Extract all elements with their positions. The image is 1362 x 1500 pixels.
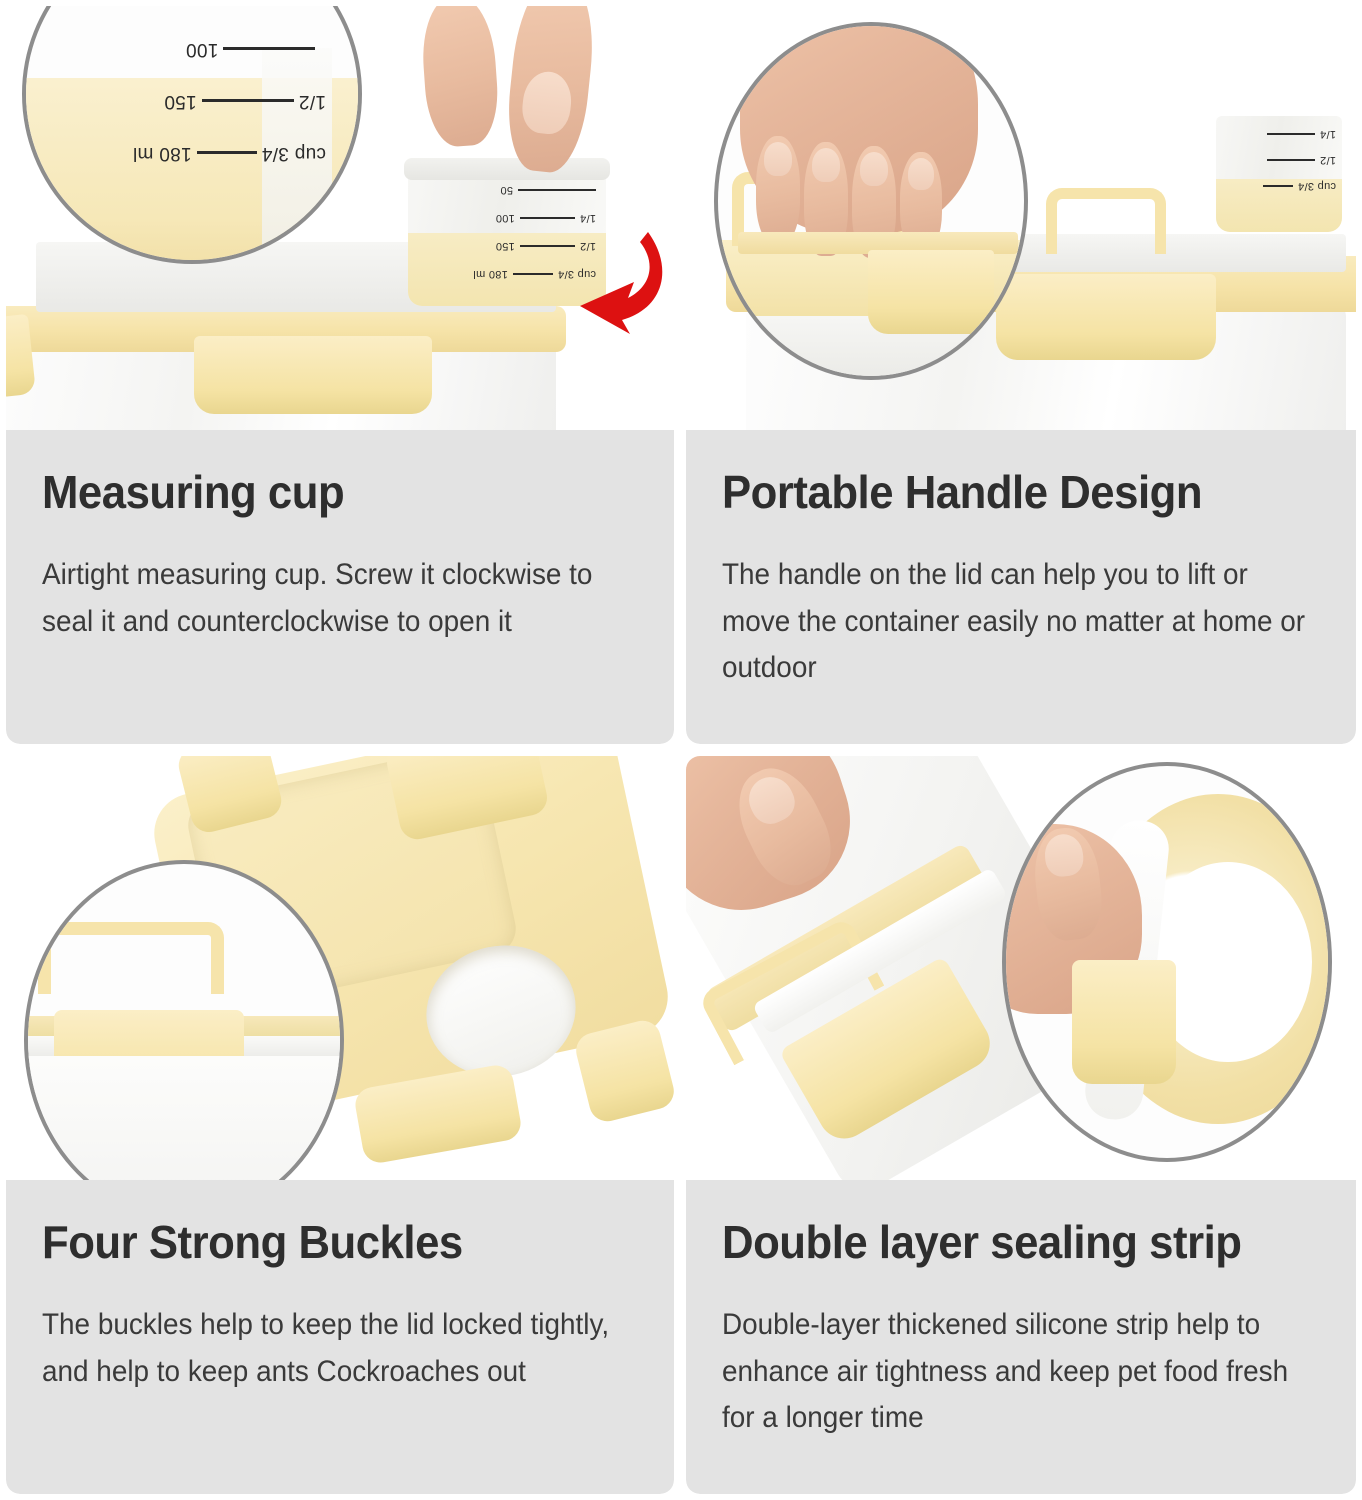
- fingernail: [741, 770, 801, 831]
- clockwise-arrow-icon: [578, 224, 674, 334]
- caption-portable-handle: Portable Handle Design The handle on the…: [686, 430, 1356, 744]
- buckle-4: [572, 1017, 674, 1125]
- feature-card-four-strong-buckles: Four Strong Buckles The buckles help to …: [6, 756, 674, 1494]
- measuring-cup-scale: cup 3/4 1/2 1/4: [1226, 128, 1336, 192]
- inset-container-body: [28, 1056, 344, 1180]
- product-photo-sealing-strip: [686, 756, 1356, 1180]
- product-photo-measuring-cup: cup 3/4180 ml 1/2150 1/4100 50: [6, 6, 674, 430]
- fingernail: [860, 152, 888, 186]
- finger-thumb: [502, 6, 600, 176]
- buckle-front: [194, 336, 432, 414]
- product-photo-buckles: [6, 756, 674, 1180]
- fingernail: [1043, 832, 1085, 878]
- measuring-cup-rim: [404, 158, 610, 180]
- fingernail: [908, 158, 934, 190]
- feature-card-measuring-cup: cup 3/4180 ml 1/2150 1/4100 50: [6, 6, 674, 744]
- magnifier-inset-handle-grip: [714, 22, 1028, 380]
- finger-1: [756, 136, 800, 244]
- feature-title: Four Strong Buckles: [42, 1218, 608, 1266]
- feature-description: Airtight measuring cup. Screw it clockwi…: [42, 552, 641, 645]
- magnifier-inset-sealing-strip: [1002, 762, 1332, 1162]
- fingernail: [764, 142, 792, 176]
- lid-handle: [1046, 188, 1166, 254]
- product-photo-portable-handle: cup 3/4 1/2 1/4: [686, 6, 1356, 430]
- inset-buckle: [1072, 960, 1176, 1084]
- finger-index: [419, 6, 501, 148]
- caption-four-strong-buckles: Four Strong Buckles The buckles help to …: [6, 1180, 674, 1494]
- inset-handle-bar: [38, 922, 224, 994]
- inset-buckle: [868, 250, 994, 334]
- caption-measuring-cup: Measuring cup Airtight measuring cup. Sc…: [6, 430, 674, 744]
- fingernail: [520, 69, 574, 136]
- inset-cup-scale: cup 3/4180 ml 1/2150 100: [66, 38, 326, 164]
- measuring-cup-scale: cup 3/4180 ml 1/2150 1/4100 50: [426, 184, 596, 280]
- feature-title: Measuring cup: [42, 468, 608, 516]
- feature-title: Double layer sealing strip: [722, 1218, 1290, 1266]
- feature-card-portable-handle: cup 3/4 1/2 1/4: [686, 6, 1356, 744]
- fingernail: [812, 148, 840, 182]
- feature-title: Portable Handle Design: [722, 468, 1290, 516]
- feature-description: The handle on the lid can help you to li…: [722, 552, 1323, 692]
- caption-sealing-strip: Double layer sealing strip Double-layer …: [686, 1180, 1356, 1494]
- buckle-front: [996, 274, 1216, 360]
- feature-description: The buckles help to keep the lid locked …: [42, 1302, 641, 1395]
- feature-description: Double-layer thickened silicone strip he…: [722, 1302, 1323, 1442]
- feature-grid: cup 3/4180 ml 1/2150 1/4100 50: [0, 0, 1362, 1500]
- feature-card-sealing-strip: Double layer sealing strip Double-layer …: [686, 756, 1356, 1494]
- magnifier-inset-cup-scale: cup 3/4180 ml 1/2150 100: [22, 6, 362, 264]
